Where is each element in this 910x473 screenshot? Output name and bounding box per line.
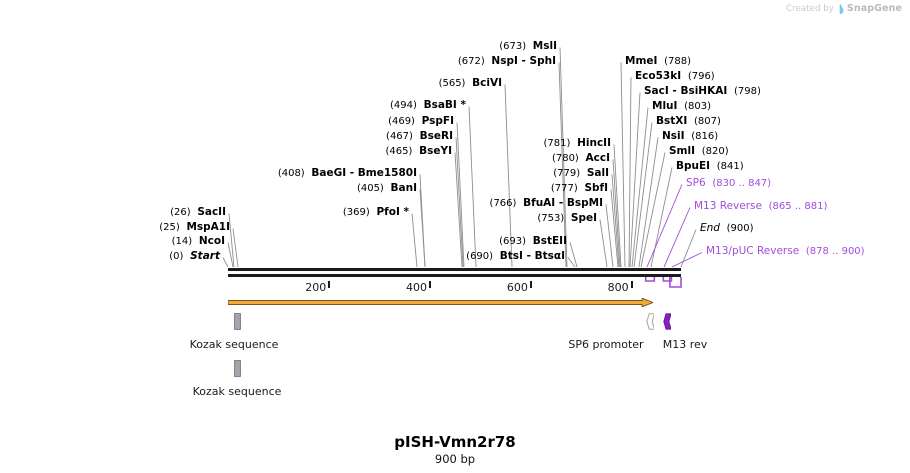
leader-line (639, 138, 658, 268)
leader-line (568, 258, 575, 268)
enzyme-name: HincII (577, 137, 611, 149)
leader-line (614, 145, 621, 268)
enzyme-name: SpeI (571, 212, 597, 224)
enzyme-name: BstXI (656, 115, 687, 127)
restriction-site-label[interactable]: (753) SpeI (537, 213, 597, 224)
enzyme-position: (369) (343, 207, 370, 218)
enzyme-position: (0) (169, 251, 183, 262)
snapgene-drop-icon (837, 4, 844, 14)
restriction-site-label[interactable]: MmeI (788) (625, 56, 691, 67)
restriction-site-label[interactable]: (405) BanI (357, 183, 417, 194)
enzyme-position: (816) (691, 131, 718, 142)
enzyme-position: (26) (170, 207, 191, 218)
leader-line (606, 205, 613, 268)
enzyme-name: MluI (652, 100, 677, 112)
restriction-site-label[interactable]: (469) PspFI (388, 116, 454, 127)
plasmid-backbone-top-strand (228, 268, 682, 271)
leader-line (621, 63, 625, 268)
feature-label-kozak-1: Kozak sequence (190, 338, 279, 351)
feature-kozak-2[interactable] (234, 360, 241, 377)
restriction-site-label[interactable]: (690) BtsI - BtsαI (466, 251, 565, 262)
restriction-site-label[interactable]: MluI (803) (652, 101, 711, 112)
leader-line (600, 220, 607, 268)
enzyme-position: (900) (727, 223, 754, 234)
enzyme-position: (753) (537, 213, 564, 224)
restriction-site-label[interactable]: (369) PfoI * (343, 207, 409, 218)
leader-line (420, 190, 425, 268)
enzyme-position: (408) (278, 168, 305, 179)
orf-arrow[interactable] (228, 292, 653, 301)
enzyme-position: (796) (688, 71, 715, 82)
leader-line (412, 214, 417, 268)
leader-line (223, 258, 228, 268)
leader-line (228, 243, 233, 268)
enzyme-position: (780) (552, 153, 579, 164)
enzyme-name: SacII (197, 206, 226, 218)
restriction-site-label[interactable]: (672) NspI - SphI (458, 56, 556, 67)
enzyme-name: BpuEI (676, 160, 710, 172)
enzyme-position: (465) (386, 146, 413, 157)
restriction-site-label[interactable]: SP6 (830 .. 847) (686, 178, 771, 189)
enzyme-name: BseYI (419, 145, 452, 157)
enzyme-name: MslI (533, 40, 557, 52)
leader-lines (0, 0, 910, 473)
feature-label-m13-rev: M13 rev (663, 338, 708, 351)
leader-line (455, 153, 462, 268)
leader-line (681, 230, 696, 268)
restriction-site-label[interactable]: (494) BsaBI * (390, 100, 466, 111)
enzyme-name: SalI (587, 167, 609, 179)
enzyme-name: NcoI (199, 235, 225, 247)
leader-line (457, 123, 464, 268)
enzyme-position: (779) (553, 168, 580, 179)
restriction-site-label[interactable]: (777) SbfI (551, 183, 608, 194)
enzyme-position: (803) (684, 101, 711, 112)
leader-line (647, 185, 682, 268)
leader-line (629, 78, 631, 268)
watermark-prefix: Created by (786, 4, 834, 14)
enzyme-position: (781) (544, 138, 571, 149)
enzyme-position: (673) (499, 41, 526, 52)
leader-line (613, 160, 620, 268)
enzyme-position: (14) (172, 236, 193, 247)
leader-line (630, 93, 640, 268)
restriction-site-label[interactable]: M13/pUC Reverse (878 .. 900) (706, 246, 865, 257)
restriction-site-label[interactable]: (408) BaeGI - Bme1580I (278, 168, 417, 179)
enzyme-name: End (700, 222, 720, 234)
enzyme-name: BaeGI - Bme1580I (311, 167, 417, 179)
restriction-site-label[interactable]: End (900) (700, 223, 754, 234)
enzyme-name: M13/pUC Reverse (706, 245, 799, 257)
enzyme-name: NspI - SphI (491, 55, 556, 67)
enzyme-position: (494) (390, 100, 417, 111)
enzyme-position: (405) (357, 183, 384, 194)
leader-line (664, 208, 690, 268)
enzyme-position: (467) (386, 131, 413, 142)
enzyme-position: (777) (551, 183, 578, 194)
feature-label-sp6-promoter: SP6 promoter (568, 338, 643, 351)
restriction-site-label[interactable]: (766) BfuAI - BspMI (490, 198, 603, 209)
restriction-site-label[interactable]: (0) Start (169, 251, 220, 262)
enzyme-position: (25) (159, 222, 180, 233)
feature-m13-rev[interactable] (663, 313, 671, 330)
leader-line (632, 108, 648, 268)
enzyme-name: PspFI (422, 115, 454, 127)
enzyme-name: MspA1I (186, 221, 230, 233)
enzyme-name: BsaBI * (424, 99, 466, 111)
leader-line (634, 123, 652, 268)
enzyme-name: SP6 (686, 177, 706, 189)
restriction-site-label[interactable]: SacI - BsiHKAI (798) (644, 86, 761, 97)
leader-line (611, 190, 618, 268)
enzyme-position: (841) (717, 161, 744, 172)
ruler-tick (530, 281, 532, 288)
enzyme-name: Start (190, 250, 220, 262)
leader-line (420, 175, 425, 268)
enzyme-name: BstEII (533, 235, 567, 247)
enzyme-position: (865 .. 881) (769, 201, 828, 212)
enzyme-name: SacI - BsiHKAI (644, 85, 727, 97)
restriction-site-label[interactable]: (467) BseRI (386, 131, 453, 142)
leader-line (570, 243, 577, 268)
enzyme-name: Eco53kI (635, 70, 681, 82)
ruler-tick (328, 281, 330, 288)
enzyme-position: (830 .. 847) (712, 178, 771, 189)
enzyme-name: BtsI - BtsαI (500, 250, 565, 262)
feature-bracket (663, 277, 671, 281)
restriction-site-label[interactable]: (25) MspA1I (159, 222, 230, 233)
leader-line (469, 107, 476, 268)
enzyme-name: M13 Reverse (694, 200, 762, 212)
enzyme-name: AccI (586, 152, 610, 164)
restriction-site-label[interactable]: SmlI (820) (669, 146, 729, 157)
enzyme-position: (798) (734, 86, 761, 97)
enzyme-name: NsiI (662, 130, 685, 142)
restriction-site-label[interactable]: (26) SacII (170, 207, 226, 218)
restriction-site-label[interactable]: Eco53kI (796) (635, 71, 715, 82)
leader-line (641, 153, 665, 268)
plasmid-map-canvas: Created by SnapGene (408) BaeGI - Bme158… (0, 0, 910, 473)
feature-kozak-1[interactable] (234, 313, 241, 330)
enzyme-name: SmlI (669, 145, 695, 157)
restriction-site-label[interactable]: (780) AccI (552, 153, 610, 164)
restriction-site-label[interactable]: (779) SalI (553, 168, 609, 179)
enzyme-position: (766) (490, 198, 517, 209)
feature-label-kozak-2: Kozak sequence (193, 385, 282, 398)
ruler-tick (429, 281, 431, 288)
ruler-tick (631, 281, 633, 288)
page-title: pISH-Vmn2r78 (0, 433, 910, 451)
enzyme-position: (820) (702, 146, 729, 157)
restriction-site-label[interactable]: (565) BciVI (439, 78, 502, 89)
enzyme-name: BseRI (420, 130, 453, 142)
snapgene-watermark: Created by SnapGene (786, 3, 902, 14)
restriction-site-label[interactable]: (673) MslI (499, 41, 557, 52)
enzyme-name: BciVI (472, 77, 502, 89)
leader-line (672, 253, 702, 268)
enzyme-name: SbfI (584, 182, 608, 194)
plasmid-size-text: 900 bp (0, 452, 910, 466)
leader-line (456, 138, 463, 268)
enzyme-position: (878 .. 900) (806, 246, 865, 257)
enzyme-position: (672) (458, 56, 485, 67)
restriction-site-label[interactable]: (465) BseYI (386, 146, 452, 157)
restriction-site-label[interactable]: (781) HincII (544, 138, 611, 149)
enzyme-position: (788) (664, 56, 691, 67)
leader-line (612, 175, 619, 268)
feature-bracket (670, 277, 681, 287)
leader-line (651, 168, 672, 268)
watermark-brand: SnapGene (847, 3, 902, 14)
enzyme-position: (469) (388, 116, 415, 127)
enzyme-name: BfuAI - BspMI (523, 197, 603, 209)
enzyme-name: MmeI (625, 55, 657, 67)
enzyme-name: BanI (391, 182, 417, 194)
enzyme-position: (807) (694, 116, 721, 127)
restriction-site-label[interactable]: M13 Reverse (865 .. 881) (694, 201, 827, 212)
enzyme-position: (690) (466, 251, 493, 262)
feature-bracket (646, 277, 655, 281)
restriction-site-label[interactable]: BstXI (807) (656, 116, 721, 127)
enzyme-position: (693) (499, 236, 526, 247)
feature-sp6-promoter[interactable] (646, 313, 655, 330)
enzyme-position: (565) (439, 78, 466, 89)
restriction-site-label[interactable]: BpuEI (841) (676, 161, 744, 172)
restriction-site-label[interactable]: (14) NcoI (172, 236, 225, 247)
plasmid-backbone-bottom-strand (228, 274, 682, 277)
restriction-site-label[interactable]: (693) BstEII (499, 236, 567, 247)
restriction-site-label[interactable]: NsiI (816) (662, 131, 718, 142)
enzyme-name: PfoI * (376, 206, 409, 218)
leader-line (233, 229, 238, 268)
